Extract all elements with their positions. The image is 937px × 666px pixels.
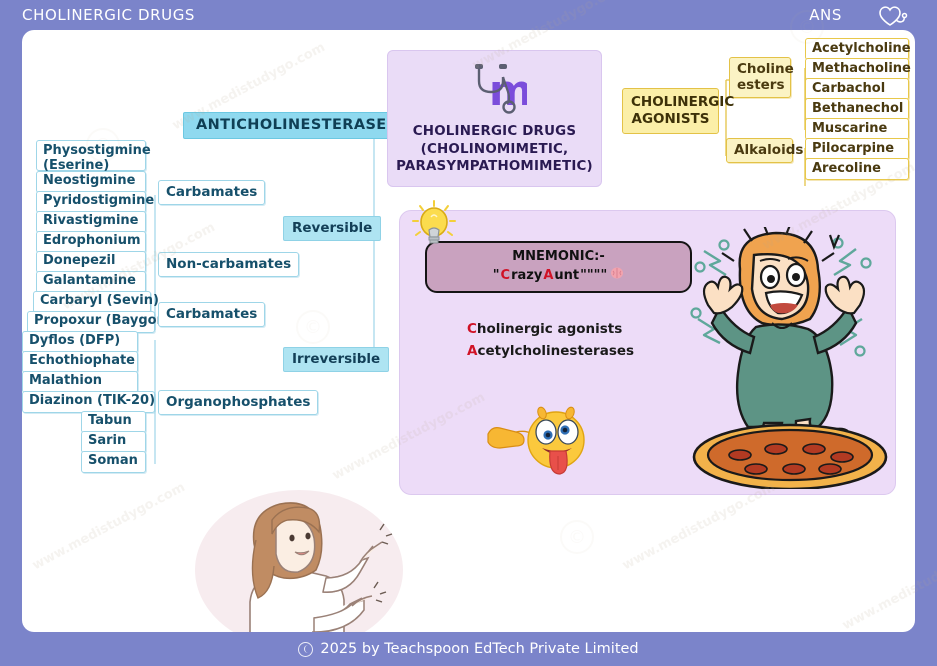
drug-pyridostigmine[interactable]: Pyridostigmine [36, 191, 146, 213]
agonist-bethanechol[interactable]: Bethanechol [805, 98, 909, 120]
footer: 2025 by Teachspoon EdTech Private Limite… [0, 632, 937, 666]
agonist-arecoline[interactable]: Arecoline [805, 158, 909, 180]
drug-neostigmine[interactable]: Neostigmine [36, 171, 146, 193]
center-title-text: CHOLINERGIC DRUGS (CHOLINOMIMETIC, PARAS… [396, 123, 593, 176]
agonists-heading-line2: AGONISTS [631, 111, 710, 128]
group-choline-esters[interactable]: Choline esters [729, 57, 791, 98]
center-title-line1: CHOLINERGIC DRUGS [396, 123, 593, 141]
m-stethoscope-logo: m [463, 59, 527, 121]
group-rev-non-carbamates[interactable]: Non-carbamates [158, 252, 299, 277]
mnemonic-expansion: Cholinergic agonists Acetylcholinesteras… [467, 319, 634, 363]
agonist-acetylcholine[interactable]: Acetylcholine [805, 38, 909, 60]
drug-propoxur[interactable]: Propoxur (Baygon) [27, 311, 155, 333]
woman-dancing-on-pizza-illustration [690, 227, 890, 493]
cholinergic-agonists-heading[interactable]: CHOLINERGIC AGONISTS [622, 88, 719, 134]
group-irrev-carbamates[interactable]: Carbamates [158, 302, 265, 327]
agonist-muscarine[interactable]: Muscarine [805, 118, 909, 140]
agonist-pilocarpine[interactable]: Pilocarpine [805, 138, 909, 160]
choline-esters-line1: Choline [737, 61, 783, 77]
line1-rest: holinergic agonists [477, 321, 622, 337]
mnemonic-phrase: "Crazy Aunt"""" [493, 266, 624, 286]
drug-physostigmine[interactable]: Physostigmine (Eserine) [36, 140, 146, 171]
drug-label: Physostigmine [43, 144, 139, 159]
subject-label: ANS [809, 6, 842, 24]
mnemonic-title: MNEMONIC:- [512, 248, 605, 266]
mnemonic-panel: MNEMONIC:- "Crazy Aunt"""" Cholinergic a… [399, 210, 896, 495]
reversible-label[interactable]: Reversible [283, 216, 381, 241]
line2-rest: cetylcholinesterases [477, 343, 634, 359]
lightbulb-icon [410, 199, 458, 253]
agonist-methacholine[interactable]: Methacholine [805, 58, 909, 80]
phrase-a: A [543, 267, 553, 285]
anticholinesterases-heading[interactable]: ANTICHOLINESTERASES [183, 112, 410, 139]
phrase-c: C [501, 267, 511, 285]
drug-diazinon[interactable]: Diazinon (TIK-20) [22, 391, 155, 413]
center-title-card: m CHOLINERGIC DRUGS (CHOLINOMIMETIC, PAR… [387, 50, 602, 187]
phrase-razy: razy [511, 267, 542, 285]
line2-initial: A [467, 343, 477, 359]
drug-tabun[interactable]: Tabun [81, 411, 146, 433]
drug-galantamine[interactable]: Galantamine [36, 271, 146, 293]
center-title-line3: PARASYMPATHOMIMETIC) [396, 158, 593, 176]
page-title: CHOLINERGIC DRUGS [22, 6, 195, 24]
top-bar: CHOLINERGIC DRUGS ANS [0, 0, 937, 30]
drug-donepezil[interactable]: Donepezil [36, 251, 146, 273]
mindmap-canvas: ANTICHOLINESTERASES Reversible Irreversi… [22, 30, 915, 632]
quote-close: """" [580, 267, 607, 285]
drug-echothiophate[interactable]: Echothiophate [22, 351, 138, 373]
drug-dyflos[interactable]: Dyflos (DFP) [22, 331, 138, 353]
drug-malathion[interactable]: Malathion [22, 371, 138, 393]
drug-rivastigmine[interactable]: Rivastigmine [36, 211, 146, 233]
irreversible-label[interactable]: Irreversible [283, 347, 389, 372]
drug-soman[interactable]: Soman [81, 451, 146, 473]
group-rev-carbamates[interactable]: Carbamates [158, 180, 265, 205]
phrase-unt: unt [554, 267, 579, 285]
group-irrev-organophosphates[interactable]: Organophosphates [158, 390, 318, 415]
mnemonic-line-2: Acetylcholinesterases [467, 341, 634, 363]
mnemonic-line-1: Cholinergic agonists [467, 319, 634, 341]
agonists-heading-line1: CHOLINERGIC [631, 94, 710, 111]
mnemonic-title-box[interactable]: MNEMONIC:- "Crazy Aunt"""" [425, 241, 692, 293]
heart-stethoscope-icon [874, 2, 912, 28]
group-alkaloids[interactable]: Alkaloids [726, 138, 793, 163]
brain-emoji [610, 266, 624, 286]
line1-initial: C [467, 321, 477, 337]
agonist-carbachol[interactable]: Carbachol [805, 78, 909, 100]
footer-text: 2025 by Teachspoon EdTech Private Limite… [320, 641, 638, 657]
woman-pointing-illustration [192, 482, 407, 632]
drug-carbaryl[interactable]: Carbaryl (Sevin) [33, 291, 151, 313]
center-title-line2: (CHOLINOMIMETIC, [396, 141, 593, 159]
drug-sarin[interactable]: Sarin [81, 431, 146, 453]
quote-open: " [493, 267, 500, 285]
drug-edrophonium[interactable]: Edrophonium [36, 231, 146, 253]
choline-esters-line2: esters [737, 77, 783, 93]
crazy-tongue-emoji [486, 404, 591, 480]
copyright-icon [298, 642, 313, 657]
